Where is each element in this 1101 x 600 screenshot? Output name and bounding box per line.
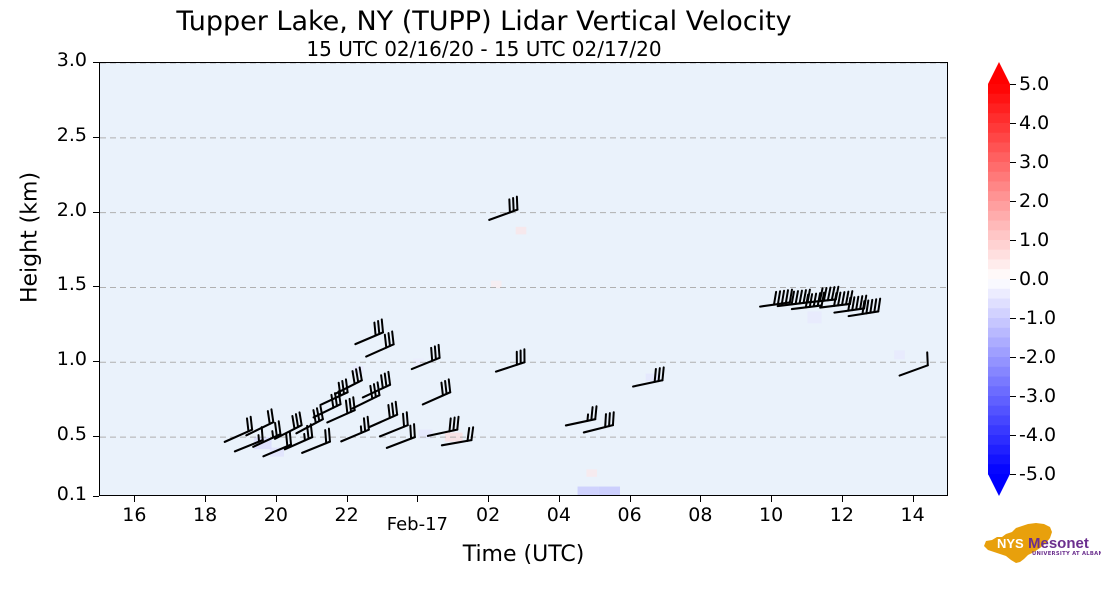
y-tick-label: 1.0 <box>0 348 87 370</box>
colorbar-tick-label: 1.0 <box>1019 229 1049 251</box>
colorbar-segment <box>988 113 1010 123</box>
colorbar-segment <box>988 152 1010 162</box>
colorbar-segment <box>988 289 1010 299</box>
x-tick-label: 22 <box>335 504 359 526</box>
colorbar-segment <box>988 464 1010 474</box>
colorbar-tick-label: 5.0 <box>1019 73 1049 95</box>
colorbar-segment <box>988 162 1010 172</box>
colorbar-tick-label: -4.0 <box>1019 424 1056 446</box>
colorbar-tick-label: 0.0 <box>1019 268 1049 290</box>
colorbar-segment <box>988 250 1010 260</box>
colorbar-segment <box>988 338 1010 348</box>
colorbar-segment <box>988 221 1010 231</box>
colorbar-tick-mark <box>1010 318 1016 319</box>
x-tick-mark <box>842 496 843 502</box>
x-tick-label: 12 <box>830 504 854 526</box>
x-tick-label: 04 <box>547 504 571 526</box>
wind-barb <box>366 331 393 356</box>
colorbar-segment <box>988 377 1010 387</box>
colorbar-segment <box>988 279 1010 289</box>
colorbar-tick-mark <box>1010 357 1016 358</box>
y-tick-label: 0.5 <box>0 423 87 445</box>
x-tick-mark <box>913 496 914 502</box>
y-tick-mark <box>93 361 99 362</box>
y-tick-mark <box>93 496 99 497</box>
colorbar-tick-mark <box>1010 435 1016 436</box>
wind-barb <box>566 406 597 425</box>
plot-svg <box>99 62 948 496</box>
colorbar-tick-label: 2.0 <box>1019 190 1049 212</box>
colorbar-segment <box>988 191 1010 201</box>
colorbar-segment <box>988 435 1010 445</box>
x-tick-label: 20 <box>264 504 288 526</box>
x-tick-mark <box>771 496 772 502</box>
x-tick-mark <box>700 496 701 502</box>
velocity-patch <box>586 469 597 476</box>
y-tick-label: 1.5 <box>0 273 87 295</box>
y-tick-mark <box>93 436 99 437</box>
x-tick-label: 06 <box>618 504 642 526</box>
colorbar-segment <box>988 396 1010 406</box>
colorbar-segment <box>988 269 1010 279</box>
colorbar-segment <box>988 367 1010 377</box>
colorbar-segment <box>988 133 1010 143</box>
y-tick-label: 3.0 <box>0 49 87 71</box>
colorbar-segment <box>988 143 1010 153</box>
colorbar-tick-label: 3.0 <box>1019 151 1049 173</box>
colorbar-tick-label: -3.0 <box>1019 385 1056 407</box>
colorbar[interactable]: 5.04.03.02.01.00.0-1.0-2.0-3.0-4.0-5.0 <box>988 62 1010 496</box>
colorbar-segment <box>988 104 1010 114</box>
page-title: Tupper Lake, NY (TUPP) Lidar Vertical Ve… <box>0 6 968 37</box>
x-tick-mark <box>488 496 489 502</box>
colorbar-extend-min-arrow <box>988 474 1010 496</box>
y-tick-mark <box>93 286 99 287</box>
x-tick-mark <box>630 496 631 502</box>
wind-barb <box>496 349 525 371</box>
colorbar-extend-max-arrow <box>988 62 1010 84</box>
logo-nys-text: NYS <box>997 536 1024 551</box>
colorbar-tick-mark <box>1010 201 1016 202</box>
page-subtitle: 15 UTC 02/16/20 - 15 UTC 02/17/20 <box>0 37 968 61</box>
y-tick-mark <box>93 212 99 213</box>
colorbar-segment <box>988 328 1010 338</box>
wind-barb <box>355 319 383 344</box>
x-tick-mark <box>347 496 348 502</box>
colorbar-segment <box>988 94 1010 104</box>
x-tick-mark <box>276 496 277 502</box>
colorbar-segment <box>988 123 1010 133</box>
plot-area[interactable] <box>99 62 948 496</box>
colorbar-segment <box>988 230 1010 240</box>
x-tick-label: 18 <box>193 504 217 526</box>
colorbar-segment <box>988 318 1010 328</box>
colorbar-segment <box>988 172 1010 182</box>
y-axis-label: Height (km) <box>18 118 43 358</box>
y-tick-label: 0.1 <box>0 483 87 505</box>
colorbar-segment <box>988 201 1010 211</box>
logo-mesonet-text: Mesonet <box>1028 535 1089 552</box>
velocity-patch <box>578 487 599 496</box>
colorbar-segment <box>988 299 1010 309</box>
wind-barb <box>423 379 450 404</box>
colorbar-segment <box>988 347 1010 357</box>
x-tick-label: 16 <box>122 504 146 526</box>
colorbar-tick-mark <box>1010 240 1016 241</box>
figure-canvas: Tupper Lake, NY (TUPP) Lidar Vertical Ve… <box>0 0 1101 600</box>
colorbar-segment <box>988 357 1010 367</box>
colorbar-tick-label: 4.0 <box>1019 112 1049 134</box>
logo-subtitle-text: UNIVERSITY AT ALBANY <box>1032 551 1101 557</box>
colorbar-segment <box>988 406 1010 416</box>
colorbar-segment <box>988 308 1010 318</box>
y-tick-mark <box>93 62 99 63</box>
velocity-patch <box>894 350 905 359</box>
y-tick-label: 2.0 <box>0 199 87 221</box>
y-tick-label: 2.5 <box>0 124 87 146</box>
wind-barb <box>320 379 347 405</box>
velocity-patch <box>353 366 364 373</box>
colorbar-tick-mark <box>1010 162 1016 163</box>
colorbar-segment <box>988 260 1010 270</box>
colorbar-tick-label: -5.0 <box>1019 463 1056 485</box>
colorbar-tick-label: -2.0 <box>1019 346 1056 368</box>
x-tick-mark <box>559 496 560 502</box>
colorbar-segment <box>988 240 1010 250</box>
colorbar-tick-mark <box>1010 279 1016 280</box>
x-tick-label-day: Feb-17 <box>387 514 448 535</box>
wind-barb <box>370 402 397 427</box>
colorbar-segment <box>988 425 1010 435</box>
nys-mesonet-logo[interactable]: NYS Mesonet <box>966 518 1096 570</box>
x-tick-mark <box>417 496 418 502</box>
velocity-patch <box>516 227 527 234</box>
x-tick-label: 02 <box>476 504 500 526</box>
x-tick-label: 10 <box>759 504 783 526</box>
colorbar-segment <box>988 445 1010 455</box>
wind-barb <box>489 197 517 220</box>
colorbar-segment <box>988 416 1010 426</box>
x-tick-mark <box>205 496 206 502</box>
colorbar-segment <box>988 84 1010 94</box>
wind-barb <box>341 417 369 442</box>
colorbar-tick-mark <box>1010 474 1016 475</box>
colorbar-segment <box>988 455 1010 465</box>
y-tick-mark <box>93 137 99 138</box>
colorbar-segment <box>988 182 1010 192</box>
colorbar-tick-mark <box>1010 396 1016 397</box>
wind-barb <box>363 372 390 398</box>
colorbar-segment <box>988 386 1010 396</box>
x-tick-label: 14 <box>901 504 925 526</box>
colorbar-tick-mark <box>1010 123 1016 124</box>
wind-barb <box>225 417 252 442</box>
colorbar-segment <box>988 211 1010 221</box>
velocity-patch <box>808 311 822 323</box>
colorbar-gradient <box>988 62 1022 496</box>
colorbar-tick-mark <box>1010 84 1016 85</box>
x-tick-mark <box>134 496 135 502</box>
x-tick-label: 08 <box>688 504 712 526</box>
x-axis-label: Time (UTC) <box>99 542 948 567</box>
colorbar-tick-label: -1.0 <box>1019 307 1056 329</box>
velocity-patch <box>599 487 620 496</box>
